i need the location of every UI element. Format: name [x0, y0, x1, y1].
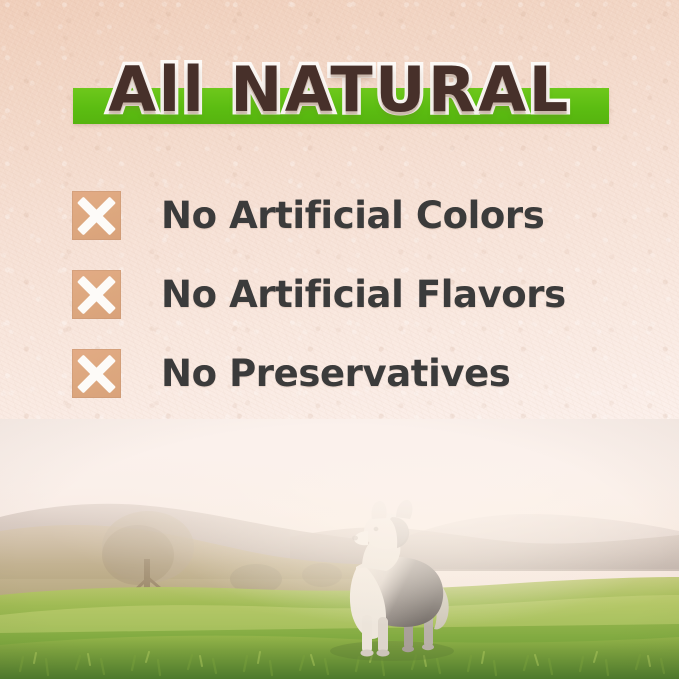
landscape-photo [0, 419, 679, 679]
headline-banner: All NATURAL [0, 47, 679, 133]
x-mark-icon [72, 191, 121, 240]
list-item: No Artificial Colors [72, 176, 632, 255]
list-item: No Artificial Flavors [72, 255, 632, 334]
x-mark-icon [72, 349, 121, 398]
claim-label: No Preservatives [161, 355, 510, 392]
poster-canvas: All NATURAL No Artificial Colors No Arti… [0, 0, 679, 679]
claim-label: No Artificial Colors [161, 197, 544, 234]
x-mark-icon [72, 270, 121, 319]
page-title: All NATURAL [0, 47, 679, 133]
landscape-illustration [0, 419, 679, 679]
claim-label: No Artificial Flavors [161, 276, 566, 313]
list-item: No Preservatives [72, 334, 632, 413]
